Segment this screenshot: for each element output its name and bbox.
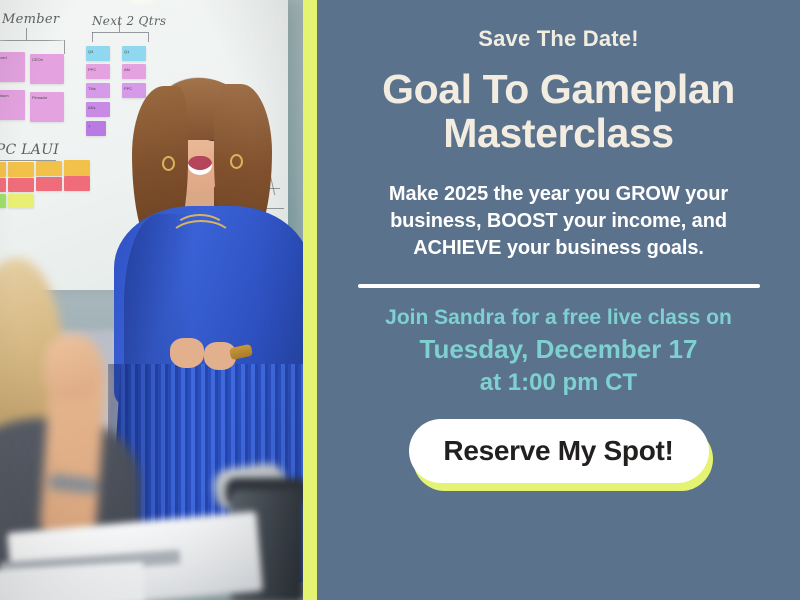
eyebrow-save-the-date: Save The Date! xyxy=(478,27,639,51)
speaker-necklace xyxy=(168,220,234,260)
content-panel: Save The Date! Goal To Gameplan Mastercl… xyxy=(317,0,800,600)
whiteboard-heading-next-2-qtrs: Next 2 Qtrs xyxy=(92,14,166,28)
subcopy-line-1: Make 2025 the year you GROW your xyxy=(389,181,728,208)
sticky-note xyxy=(0,162,6,177)
subcopy-line-2: business, BOOST your income, and xyxy=(389,208,728,235)
whiteboard-ink-stroke xyxy=(0,40,64,41)
speaker-hand-left xyxy=(170,338,204,368)
reserve-my-spot-button[interactable]: Reserve My Spot! xyxy=(409,419,709,483)
sticky-note: CEOn xyxy=(30,54,64,84)
sticky-note xyxy=(36,177,62,191)
horizontal-divider xyxy=(358,284,760,288)
attendee-hand xyxy=(44,334,100,400)
whiteboard-ink-stroke xyxy=(148,32,149,42)
foreground-papers xyxy=(0,562,145,600)
sticky-note: ADs xyxy=(86,102,110,117)
sticky-note: Pinnacle xyxy=(30,92,64,122)
whiteboard-ink-stroke xyxy=(119,20,120,32)
cta-container: Reserve My Spot! xyxy=(409,419,709,487)
subcopy-line-3: ACHIEVE your business goals. xyxy=(389,235,728,262)
lime-divider-stripe xyxy=(303,0,317,600)
promo-ad-creative: Member Next 2 Qtrs PPC LAUI Discord CEOn… xyxy=(0,0,800,600)
headline-line-1: Goal To Gameplan xyxy=(382,67,735,111)
event-details: Join Sandra for a free live class on Tue… xyxy=(385,305,732,397)
sticky-note xyxy=(8,162,34,177)
sticky-note: Q4 xyxy=(86,46,110,61)
sticky-note: Discord xyxy=(0,52,25,82)
sticky-note: ? xyxy=(86,121,106,136)
sticky-note xyxy=(64,176,90,191)
whiteboard-ink-stroke xyxy=(92,32,93,42)
whiteboard-heading-ppc: PPC LAUI xyxy=(0,142,59,158)
whiteboard-ink-stroke xyxy=(26,28,27,40)
whiteboard-ink-stroke xyxy=(64,40,65,54)
subcopy: Make 2025 the year you GROW your busines… xyxy=(389,181,728,263)
speaker-earring xyxy=(162,156,175,171)
sticky-note: PPC xyxy=(86,64,110,79)
sticky-note xyxy=(8,178,34,192)
whiteboard-heading-member: Member xyxy=(2,12,59,27)
sticky-note xyxy=(0,194,6,208)
event-date: Tuesday, December 17 xyxy=(385,333,732,365)
sticky-note xyxy=(36,161,62,176)
sticky-note xyxy=(8,194,34,208)
whiteboard-glare xyxy=(128,0,154,3)
speaker-photo: Member Next 2 Qtrs PPC LAUI Discord CEOn… xyxy=(0,0,303,600)
headline-line-2: Masterclass xyxy=(382,111,735,155)
sticky-note: Platinum xyxy=(0,90,25,120)
sticky-note xyxy=(0,178,6,192)
event-time: at 1:00 pm CT xyxy=(385,368,732,398)
event-invite-line: Join Sandra for a free live class on xyxy=(385,305,732,331)
speaker-smile xyxy=(188,156,212,175)
whiteboard-ink-stroke xyxy=(92,32,148,33)
sticky-note xyxy=(64,160,90,176)
page-title: Goal To Gameplan Masterclass xyxy=(382,67,735,156)
speaker-earring xyxy=(230,154,243,169)
sticky-note: TMs xyxy=(86,83,110,98)
sticky-note: Q1 xyxy=(122,46,146,61)
